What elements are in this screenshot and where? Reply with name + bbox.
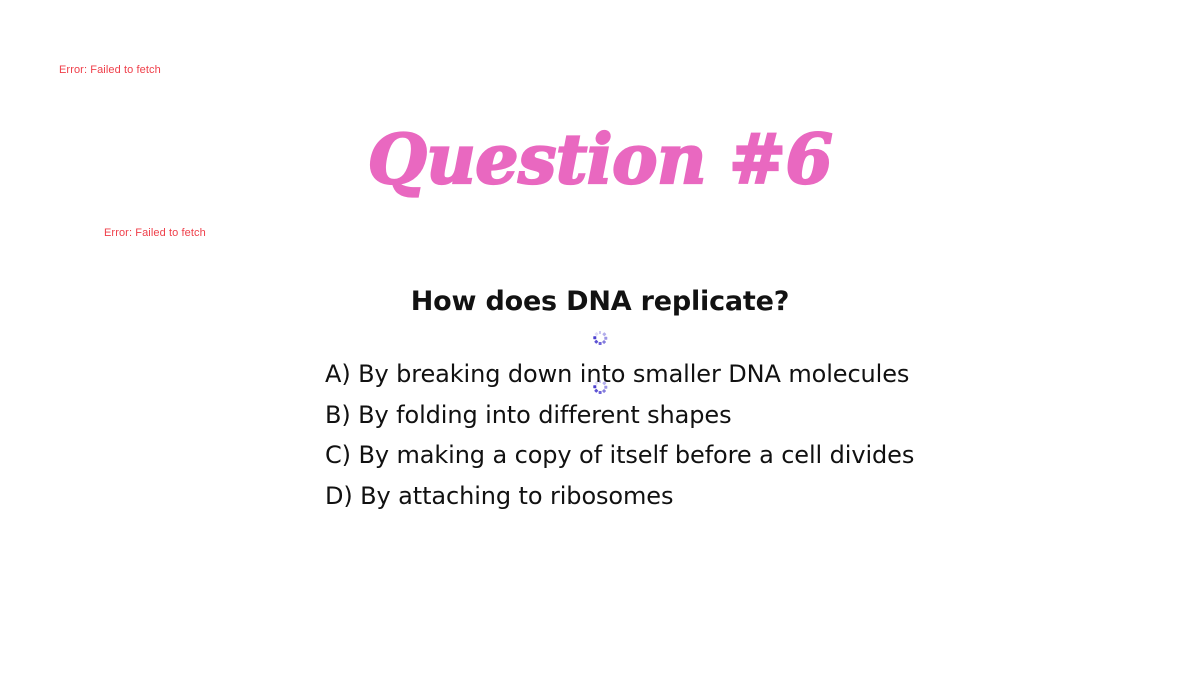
spinner-dot: [599, 342, 602, 345]
spinner-dot: [599, 380, 602, 383]
spinner-dot: [599, 331, 602, 334]
question-container: How does DNA replicate?: [0, 285, 1200, 319]
spinner-dot: [594, 389, 598, 393]
spinner-dot: [602, 340, 606, 344]
error-message-top: Error: Failed to fetch: [59, 64, 161, 77]
spinner-dot: [602, 332, 606, 336]
spinner-dot: [604, 337, 607, 340]
answer-option-a[interactable]: A) By breaking down into smaller DNA mol…: [325, 354, 1085, 395]
spinner-dot: [602, 381, 606, 385]
spinner-dot: [594, 381, 598, 385]
spinner-dot: [594, 332, 598, 336]
answer-option-b[interactable]: B) By folding into different shapes: [325, 395, 1085, 436]
spinner-dot: [593, 337, 596, 340]
spinner-dot: [604, 386, 607, 389]
spinner-dot: [594, 340, 598, 344]
slide-canvas: Error: Failed to fetch Error: Failed to …: [0, 0, 1200, 675]
spinner-dot: [593, 386, 596, 389]
answer-option-d[interactable]: D) By attaching to ribosomes: [325, 476, 1085, 517]
page-title: Question #6: [368, 112, 833, 208]
question-prompt: How does DNA replicate?: [411, 285, 789, 319]
answer-options-list: A) By breaking down into smaller DNA mol…: [325, 354, 1085, 516]
error-message-second: Error: Failed to fetch: [104, 227, 206, 240]
spinner-dot: [602, 389, 606, 393]
title-container: Question #6: [0, 112, 1200, 208]
spinner-dot: [599, 391, 602, 394]
loading-spinner-icon: [593, 331, 607, 345]
answer-option-c[interactable]: C) By making a copy of itself before a c…: [325, 435, 1085, 476]
loading-spinner-icon-secondary: [593, 380, 607, 394]
